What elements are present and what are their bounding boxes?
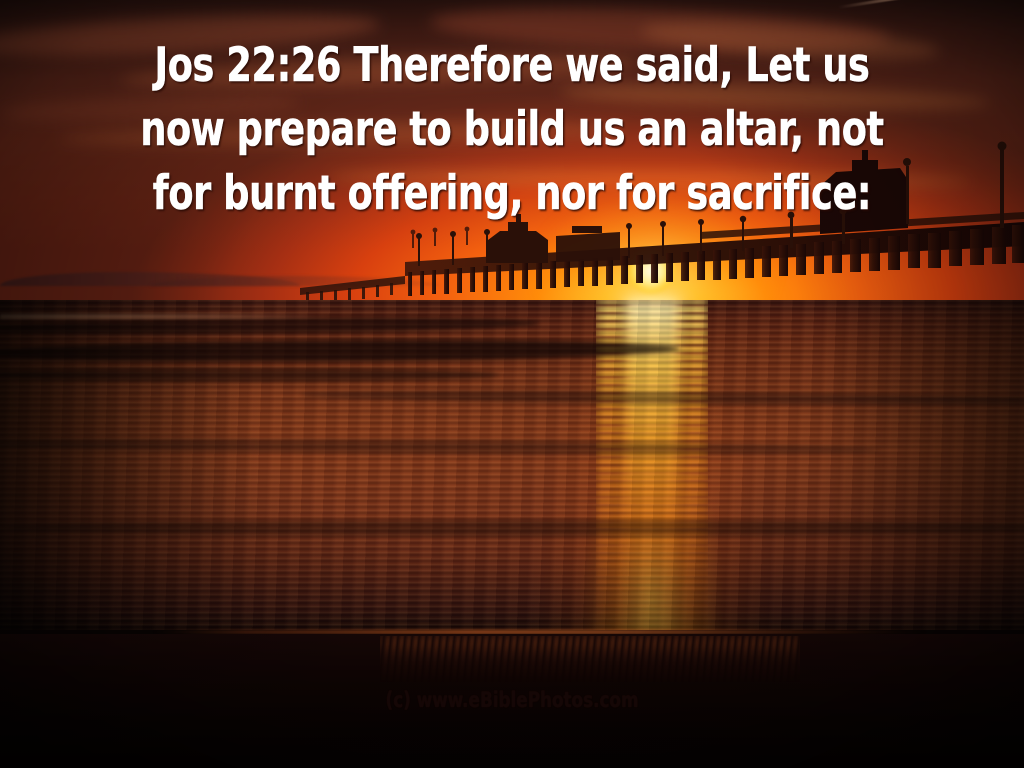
bible-verse-image: Jos 22:26 Therefore we said, Let us now … bbox=[0, 0, 1024, 768]
verse-line-2: now prepare to build us an altar, not bbox=[113, 98, 912, 162]
right-shadow-overlay bbox=[824, 300, 1024, 630]
sand-reflection-sheen bbox=[380, 636, 800, 682]
verse-line-3: for burnt offering, nor for sacrifice: bbox=[113, 162, 912, 226]
verse-line-1: Jos 22:26 Therefore we said, Let us bbox=[113, 34, 912, 98]
sun-disc bbox=[628, 248, 674, 294]
left-shadow-overlay bbox=[0, 300, 260, 630]
bible-verse-text: Jos 22:26 Therefore we said, Let us now … bbox=[113, 34, 912, 226]
copyright-watermark: (c) www.eBiblePhotos.com bbox=[102, 688, 921, 712]
